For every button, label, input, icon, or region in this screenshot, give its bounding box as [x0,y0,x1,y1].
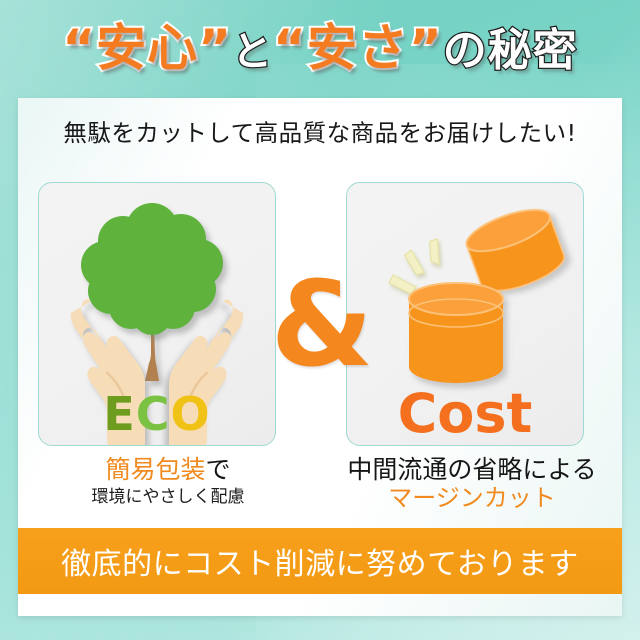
card-cost[interactable]: Cost [346,182,584,446]
eco-label: ECO [39,391,275,437]
caption-eco: 簡易包装で 環境にやさしく配慮 [28,456,308,507]
headline-white-himitsu: の秘密 [443,25,578,76]
eco-letter-o: O [171,387,211,441]
caption-cost-line2: マージンカット [332,485,612,513]
caption-eco-main-orange: 簡易包装 [105,455,205,484]
eco-letter-c: C [136,387,171,441]
poster-root: “安心”と“安さ”の秘密 無駄をカットして高品質な商品をお届けしたい! [0,0,640,640]
headline: “安心”と“安さ”の秘密 [62,23,577,73]
feature-cards: ECO & [18,182,622,462]
eco-letter-e: E [103,387,135,441]
headline-orange-anshin: “安心” [62,19,232,77]
caption-eco-main: 簡易包装で [28,456,308,485]
content-panel: 無駄をカットして高品質な商品をお届けしたい! [18,98,622,616]
headline-orange-yasusa: “安さ” [273,19,443,77]
caption-cost: 中間流通の省略による マージンカット [332,456,612,512]
subtitle: 無駄をカットして高品質な商品をお届けしたい! [18,114,622,148]
card-captions: 簡易包装で 環境にやさしく配慮 中間流通の省略による マージンカット [18,456,622,528]
card-eco[interactable]: ECO [38,182,276,446]
ampersand-separator: & [276,254,368,394]
headline-white-to: と [232,29,273,75]
bottom-banner-text: 徹底的にコスト削減に努めております [61,539,579,583]
page-header: “安心”と“安さ”の秘密 [0,0,640,96]
cost-label: Cost [347,387,583,441]
caption-cost-line1: 中間流通の省略による [332,456,612,485]
caption-eco-sub: 環境にやさしく配慮 [28,487,308,507]
caption-eco-main-dark: で [206,455,231,484]
bottom-banner: 徹底的にコスト削減に努めております [18,528,622,594]
